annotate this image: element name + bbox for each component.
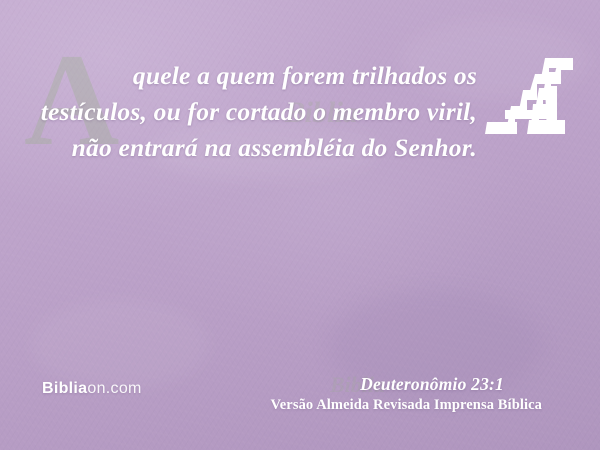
site-logo-bold: Biblia: [42, 380, 87, 397]
site-logo[interactable]: Bibliaon.com: [42, 380, 142, 398]
verse-reference: Deuteronômio 23:1: [360, 374, 504, 395]
drop-cap-letter-a-icon: [483, 56, 575, 138]
verse-block: quele a quem forem trilhados os testícul…: [30, 58, 575, 166]
verse-image-canvas: A Biblia Biblia: [0, 0, 600, 450]
bible-version-label: Versão Almeida Revisada Imprensa Bíblica: [271, 397, 542, 414]
footer: Bibliaon.com Deuteronômio 23:1 Versão Al…: [0, 374, 600, 430]
site-logo-thin: on.com: [87, 380, 141, 397]
